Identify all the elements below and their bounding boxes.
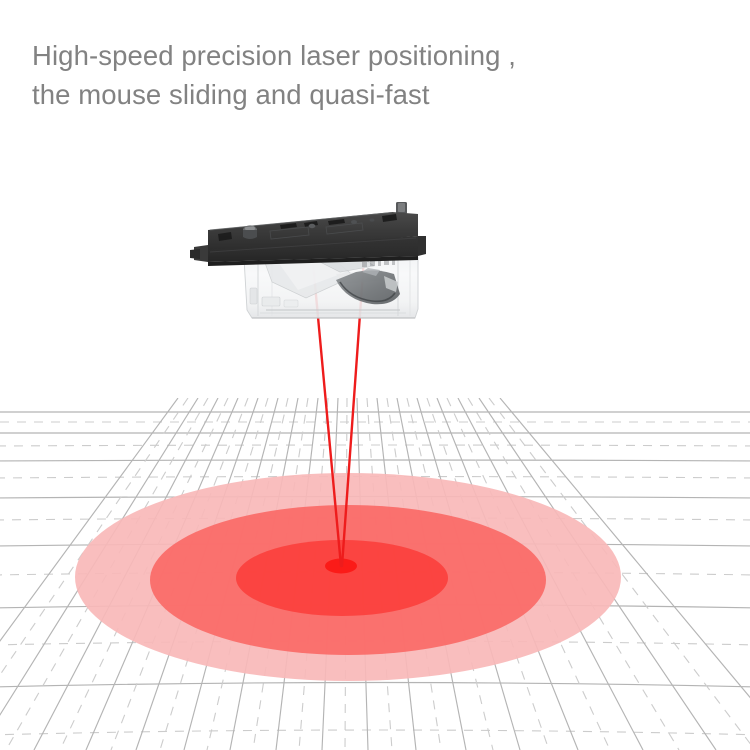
laser-hotspot <box>325 559 357 574</box>
page-title: High-speed precision laser positioning ,… <box>32 36 732 114</box>
laser-mouse-sensor-module <box>186 200 426 325</box>
inner-glow-ring <box>236 540 448 616</box>
black-pcb-cover <box>190 202 426 266</box>
right-mount-tab <box>418 236 426 256</box>
laser-glow-rings <box>0 398 750 750</box>
promo-image-canvas: High-speed precision laser positioning ,… <box>0 0 750 750</box>
